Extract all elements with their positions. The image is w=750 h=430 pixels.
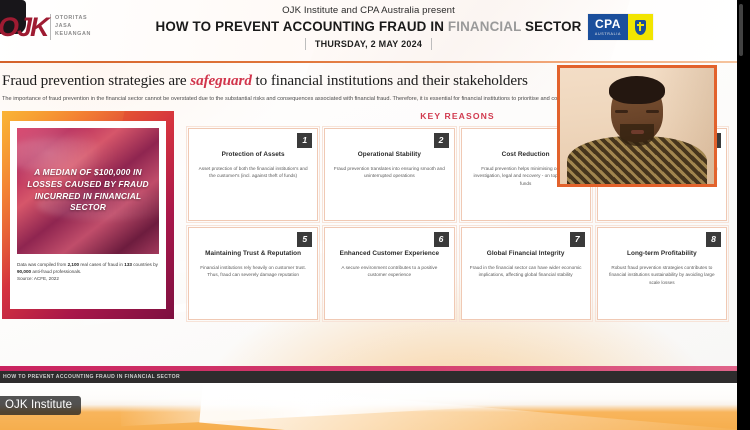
source-suffix: anti-fraud professionals. — [31, 269, 81, 274]
presenter-beard — [620, 124, 654, 146]
reason-card-number: 2 — [434, 133, 449, 148]
cpa-logo-main: CPA — [595, 18, 621, 30]
reason-card-title: Maintaining Trust & Reputation — [205, 250, 301, 259]
event-title-part2: SECTOR — [521, 19, 581, 34]
scrollbar-thumb[interactable] — [739, 4, 743, 56]
reason-card-title: Long-term Profitability — [627, 250, 697, 259]
event-date: THURSDAY, 2 MAY 2024 — [315, 39, 422, 49]
reason-card-title: Protection of Assets — [222, 151, 285, 160]
reason-card: 6Enhanced Customer ExperienceA secure en… — [324, 227, 454, 320]
reason-card-number: 5 — [297, 232, 312, 247]
statistic-card: A MEDIAN OF $100,000 IN LOSSES CAUSED BY… — [10, 121, 166, 309]
cpa-logo-text-block: CPA AUSTRALIA — [588, 14, 628, 40]
reason-card: 8Long-term ProfitabilityRobust fraud pre… — [597, 227, 727, 320]
stage-bottom-area — [0, 383, 737, 430]
source-mid-2: countries by — [132, 262, 158, 267]
footer-strip-text: HOW TO PREVENT ACCOUNTING FRAUD IN FINAN… — [3, 374, 180, 380]
reason-card-number: 8 — [706, 232, 721, 247]
presenter-brow-left — [615, 110, 628, 113]
date-divider-right — [431, 38, 432, 50]
statistic-source: Data was compiled from 2,100 real cases … — [17, 254, 159, 283]
presentation-slide: OJK OTORITAS JASA KEUANGAN OJK Institute… — [0, 0, 737, 430]
reason-card-title: Cost Reduction — [502, 151, 550, 160]
reason-card-title: Global Financial Integrity — [487, 250, 565, 259]
reason-card-title: Operational Stability — [358, 151, 421, 160]
reason-card-body: Asset protection of both the financial i… — [196, 165, 310, 180]
reason-card: 7Global Financial IntegrityFraud in the … — [461, 227, 591, 320]
cpa-australia-logo: CPA AUSTRALIA — [588, 14, 653, 40]
source-prefix: Data was compiled from — [17, 262, 68, 267]
source-mid-1: real cases of fraud in — [79, 262, 124, 267]
reason-card-number: 6 — [434, 232, 449, 247]
source-citation: Source: ACFE, 2022 — [17, 275, 159, 282]
reason-card-body: Fraud in the financial sector can have w… — [469, 264, 583, 279]
source-cases: 2,100 — [68, 262, 80, 267]
reason-card: 1Protection of AssetsAsset protection of… — [188, 128, 318, 221]
slide-footer-strip: HOW TO PREVENT ACCOUNTING FRAUD IN FINAN… — [0, 371, 737, 383]
screen-root: OJK OTORITAS JASA KEUANGAN OJK Institute… — [0, 0, 750, 430]
headline-before: Fraud prevention strategies are — [2, 72, 190, 89]
reason-card-number: 1 — [297, 133, 312, 148]
presenter-hair — [609, 76, 665, 104]
presenter-video-tile[interactable] — [557, 65, 717, 187]
source-professionals: 90,000 — [17, 269, 31, 274]
headline-accent-word: safeguard — [190, 72, 252, 89]
reason-card: 5Maintaining Trust & ReputationFinancial… — [188, 227, 318, 320]
presenter-mouth — [631, 130, 644, 134]
headline-after: to financial institutions and their stak… — [252, 72, 528, 89]
statistic-panel: A MEDIAN OF $100,000 IN LOSSES CAUSED BY… — [2, 111, 174, 319]
event-title-part1: HOW TO PREVENT ACCOUNTING FRAUD IN — [156, 19, 448, 34]
slide-header: OJK OTORITAS JASA KEUANGAN OJK Institute… — [0, 0, 737, 62]
reason-card-body: Financial institutions rely heavily on c… — [196, 264, 310, 279]
reason-card-body: Robust fraud prevention strategies contr… — [605, 264, 719, 286]
reason-card: 2Operational StabilityFraud prevention t… — [324, 128, 454, 221]
presenter-brow-right — [646, 110, 659, 113]
cpa-logo-crest-block — [628, 14, 653, 40]
right-black-bar — [737, 0, 750, 430]
source-countries: 133 — [124, 262, 132, 267]
statistic-photo: A MEDIAN OF $100,000 IN LOSSES CAUSED BY… — [17, 128, 159, 254]
statistic-headline: A MEDIAN OF $100,000 IN LOSSES CAUSED BY… — [17, 167, 159, 215]
participant-name-chip: OJK Institute — [0, 396, 81, 415]
reason-card-title: Enhanced Customer Experience — [340, 250, 439, 259]
date-divider-left — [305, 38, 306, 50]
reason-card-body: A secure environment contributes to a po… — [332, 264, 446, 279]
cpa-crest-icon — [635, 20, 646, 35]
reason-card-number: 7 — [570, 232, 585, 247]
reason-card-body: Fraud prevention translates into ensurin… — [332, 165, 446, 180]
event-title-dim: FINANCIAL — [448, 19, 521, 34]
cpa-logo-sub: AUSTRALIA — [595, 32, 621, 36]
